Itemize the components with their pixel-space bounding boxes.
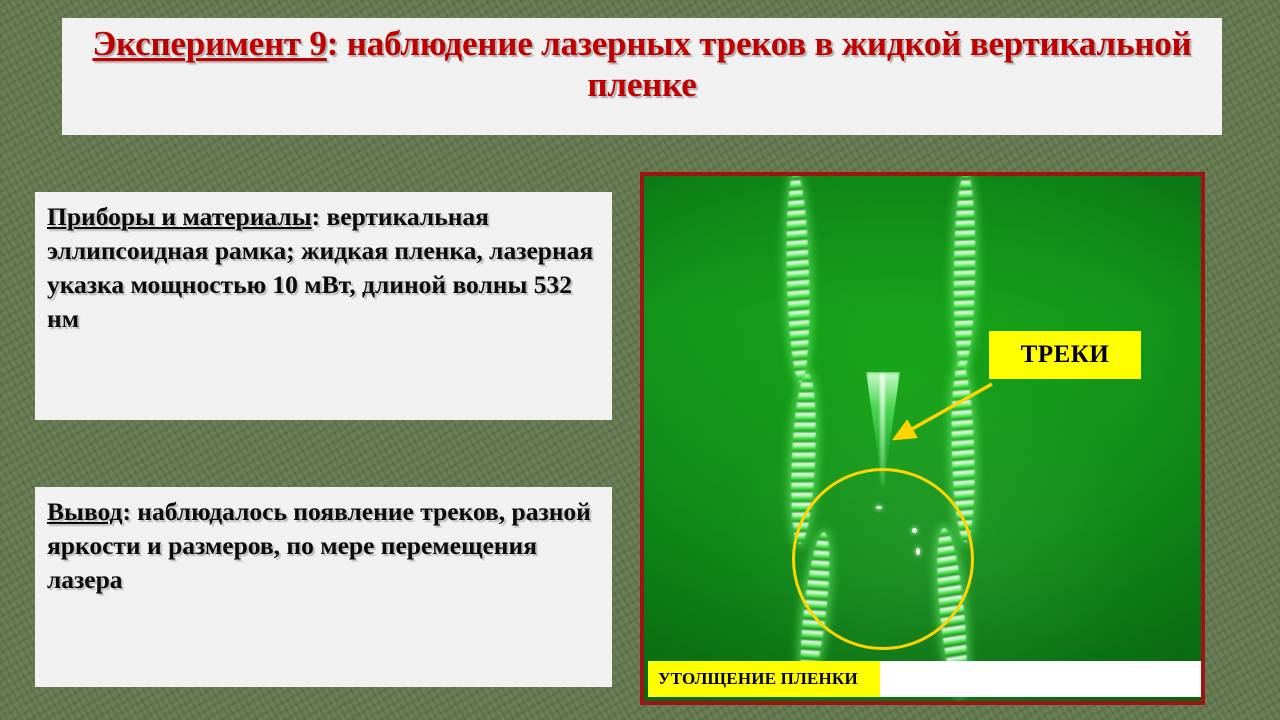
materials-panel: Приборы и материалы: вертикальная эллипс… [35, 192, 612, 420]
page-title-rest: : наблюдение лазерных треков в жидкой ве… [327, 24, 1192, 104]
materials-text: Приборы и материалы: вертикальная эллипс… [47, 200, 600, 336]
page-title-lead: Эксперимент 9 [92, 24, 326, 63]
photo-label-tracks: ТРЕКИ [989, 331, 1141, 379]
conclusion-text: Вывод: наблюдалось появление треков, раз… [47, 495, 600, 597]
title-panel: Эксперимент 9: наблюдение лазерных треко… [62, 18, 1222, 135]
experiment-photo: ТРЕКИ УТОЛЩЕНИЕ ПЛЕНКИ [640, 172, 1205, 705]
page-title: Эксперимент 9: наблюдение лазерных треко… [76, 24, 1208, 105]
photo-bottom-strip [880, 661, 1201, 697]
materials-heading: Приборы и материалы [47, 202, 312, 231]
conclusion-body: : наблюдалось появление треков, разной я… [47, 497, 591, 594]
conclusion-panel: Вывод: наблюдалось появление треков, раз… [35, 487, 612, 687]
photo-label-thickening: УТОЛЩЕНИЕ ПЛЕНКИ [648, 661, 880, 697]
annotation-ellipse-tracks [792, 468, 974, 650]
conclusion-heading: Вывод [47, 497, 122, 526]
